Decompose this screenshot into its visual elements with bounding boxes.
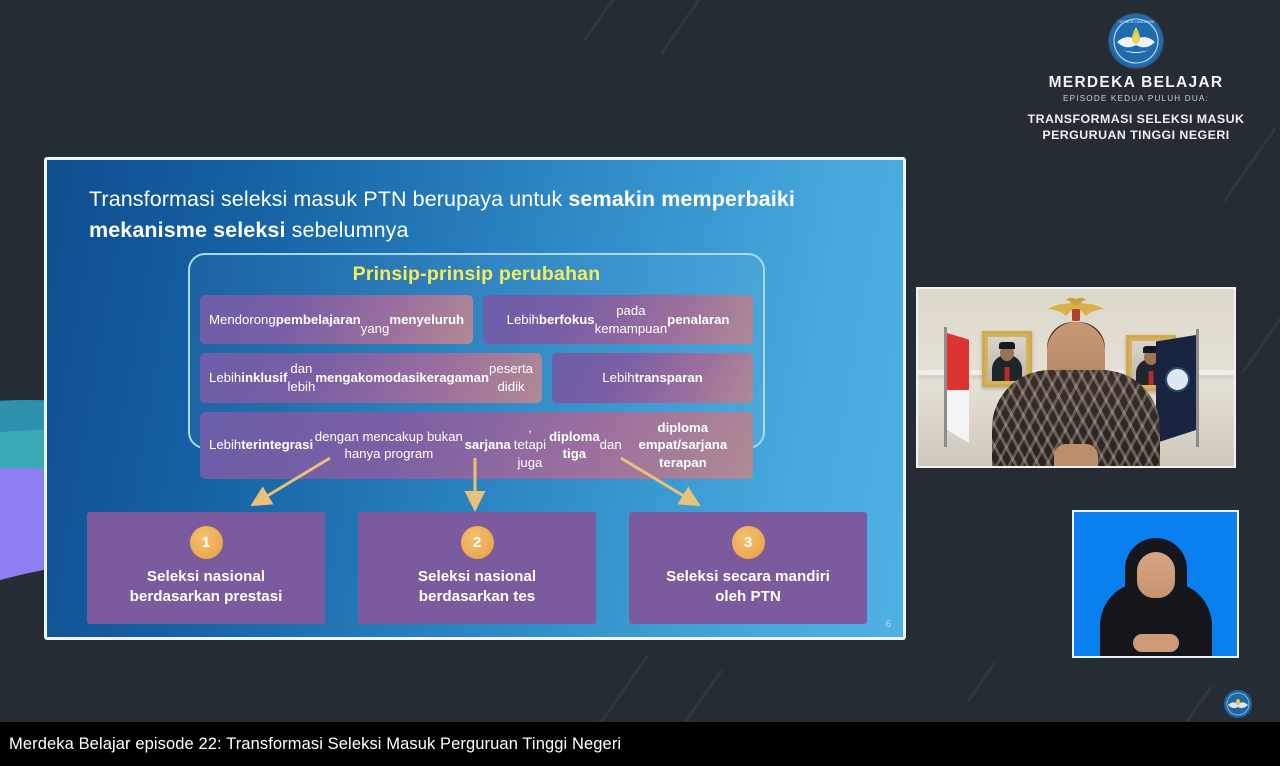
logo-subtitle-line1: TRANSFORMASI SELEKSI MASUK <box>1016 111 1256 127</box>
speaker-hands <box>1054 444 1098 466</box>
principles-row-1: Mendorong pembelajaranyang menyeluruh Le… <box>200 295 753 344</box>
logo-title: MERDEKA BELAJAR <box>1016 74 1256 91</box>
principles-row-2: Lebih inklusif dan lebih mengakomodasike… <box>200 353 753 402</box>
card-1-label-line1: Seleksi nasional <box>95 567 317 587</box>
card-2-label-line2: berdasarkan tes <box>366 587 588 607</box>
interpreter-hands <box>1133 634 1179 652</box>
card-3-label-line2: oleh PTN <box>637 587 859 607</box>
selection-cards: 1 Seleksi nasional berdasarkan prestasi … <box>87 512 867 624</box>
card-1-label-line2: berdasarkan prestasi <box>95 587 317 607</box>
selection-card-2: 2 Seleksi nasional berdasarkan tes <box>358 512 596 624</box>
principle-box-1: Mendorong pembelajaranyang menyeluruh <box>200 295 473 344</box>
slide-title-part1: Transformasi seleksi masuk PTN berupaya … <box>89 187 568 211</box>
tut-wuri-handayani-emblem-icon: TUT WURI HANDAYANI <box>1109 14 1163 68</box>
card-number-badge-3: 3 <box>732 526 765 559</box>
principles-container: Prinsip-prinsip perubahan Mendorong pemb… <box>188 253 765 449</box>
ministry-flag <box>1196 329 1199 447</box>
selection-card-1: 1 Seleksi nasional berdasarkan prestasi <box>87 512 325 624</box>
principle-box-4: Lebih transparan <box>552 353 753 402</box>
card-3-label-line1: Seleksi secara mandiri <box>637 567 859 587</box>
sign-language-interpreter-tile[interactable] <box>1072 510 1239 658</box>
caption-bar: Merdeka Belajar episode 22: Transformasi… <box>0 722 1280 766</box>
flow-arrows <box>47 452 903 514</box>
caption-text: Merdeka Belajar episode 22: Transformasi… <box>0 735 621 754</box>
speaker-video-tile[interactable] <box>916 287 1236 468</box>
slide-title-part2: sebelumnya <box>286 218 409 242</box>
card-number-badge-2: 2 <box>461 526 494 559</box>
indonesian-flag <box>944 327 947 447</box>
logo-subtitle-line2: PERGURUAN TINGGI NEGERI <box>1016 127 1256 143</box>
logo-episode: EPISODE KEDUA PULUH DUA: <box>1016 94 1256 103</box>
program-logo-block: TUT WURI HANDAYANI MERDEKA BELAJAR EPISO… <box>1016 14 1256 144</box>
principle-box-2: Lebih berfokus padakemampuan penalaran <box>483 295 753 344</box>
svg-text:TUT WURI HANDAYANI: TUT WURI HANDAYANI <box>1118 20 1155 24</box>
principle-box-3: Lebih inklusif dan lebih mengakomodasike… <box>200 353 542 402</box>
arrow-diagonal-left <box>261 458 331 500</box>
card-2-label-line1: Seleksi nasional <box>366 567 588 587</box>
card-number-badge-1: 1 <box>190 526 223 559</box>
presentation-slide: Transformasi seleksi masuk PTN berupaya … <box>44 157 906 640</box>
watermark-emblem-icon <box>1224 690 1252 718</box>
slide-page-number: 6 <box>885 619 891 630</box>
webinar-screen: TUT WURI HANDAYANI MERDEKA BELAJAR EPISO… <box>0 0 1280 766</box>
principles-heading: Prinsip-prinsip perubahan <box>190 263 763 286</box>
selection-card-3: 3 Seleksi secara mandiri oleh PTN <box>629 512 867 624</box>
slide-title: Transformasi seleksi masuk PTN berupaya … <box>89 184 863 245</box>
arrow-diagonal-right <box>621 458 691 500</box>
interpreter-face <box>1137 552 1175 598</box>
